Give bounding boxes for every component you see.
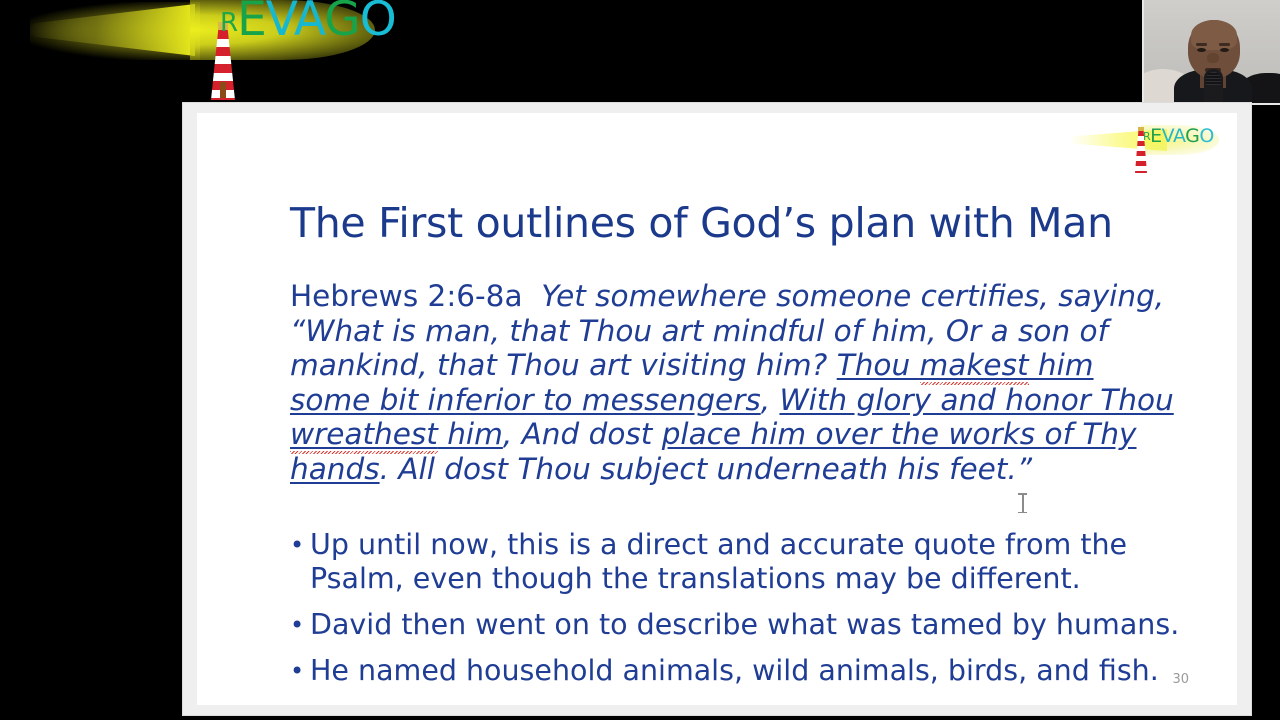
scripture-mid-2: , And dost [503, 417, 662, 451]
list-item: • Up until now, this is a direct and acc… [290, 528, 1190, 596]
lighthouse-door [220, 82, 226, 98]
bullet-marker-icon: • [290, 654, 310, 688]
ibeam-bar [1022, 494, 1024, 512]
logo-letter-o: O [360, 0, 396, 47]
presentation-screen: REVAGO [0, 0, 1280, 720]
top-banner: REVAGO [0, 0, 1280, 105]
slide-number: 30 [1172, 672, 1189, 687]
slide-logo-letters-va: VA [1162, 125, 1185, 147]
scripture-spacer [523, 279, 542, 313]
scripture-tail: . All dost Thou subject underneath his f… [380, 452, 1032, 486]
bullet-list: • Up until now, this is a direct and acc… [290, 528, 1190, 700]
webcam-speaker-eye-left [1197, 48, 1206, 52]
scripture-mid-1: , [761, 383, 780, 417]
logo-letter-g: G [324, 0, 359, 47]
list-item: • David then went on to describe what wa… [290, 608, 1190, 642]
scripture-misspelled-wreathest: wreathest [290, 417, 438, 454]
revago-logo-large: REVAGO [30, 0, 370, 105]
slide-frame: REVAGO The First outlines of God’s plan … [183, 103, 1251, 715]
text-cursor-ibeam [1018, 492, 1027, 514]
scripture-u2-post: him [438, 417, 503, 451]
slide-logo-letter-o: O [1199, 125, 1213, 147]
logo-letter-e: E [237, 0, 266, 47]
scripture-paragraph: Hebrews 2:6-8a Yet somewhere someone cer… [290, 279, 1182, 486]
scripture-misspelled-makest: makest [920, 348, 1029, 385]
logo-letters-va: VA [266, 0, 324, 47]
scripture-u1-pre: Thou [837, 348, 920, 382]
slide-logo-letter-g: G [1185, 125, 1199, 147]
bullet-marker-icon: • [290, 528, 310, 562]
slide-logo-wordmark: REVAGO [1143, 127, 1214, 146]
slide-title: The First outlines of God’s plan with Ma… [290, 199, 1113, 247]
revago-wordmark: REVAGO [220, 0, 396, 43]
bullet-text: Up until now, this is a direct and accur… [310, 528, 1190, 596]
slide-logo-letter-e: E [1150, 125, 1162, 147]
logo-letter-r: R [220, 8, 237, 38]
webcam-video-tile[interactable] [1142, 0, 1280, 105]
list-item: • He named household animals, wild anima… [290, 654, 1190, 688]
bullet-text: He named household animals, wild animals… [310, 654, 1190, 688]
bullet-text: David then went on to describe what was … [310, 608, 1190, 642]
webcam-speaker-eye-right [1220, 48, 1229, 52]
scripture-u2-pre: With glory and honor Thou [779, 383, 1173, 417]
webcam-speaker-brow-left [1196, 43, 1207, 46]
microphone-grille [1206, 72, 1221, 85]
webcam-speaker-brow-right [1219, 43, 1230, 46]
ibeam-cap-bottom [1018, 512, 1027, 514]
slide-canvas[interactable]: REVAGO The First outlines of God’s plan … [197, 113, 1237, 705]
scripture-reference: Hebrews 2:6-8a [290, 279, 523, 313]
webcam-speaker-nose [1207, 53, 1219, 63]
revago-logo-small: REVAGO [1071, 119, 1219, 177]
bullet-marker-icon: • [290, 608, 310, 642]
